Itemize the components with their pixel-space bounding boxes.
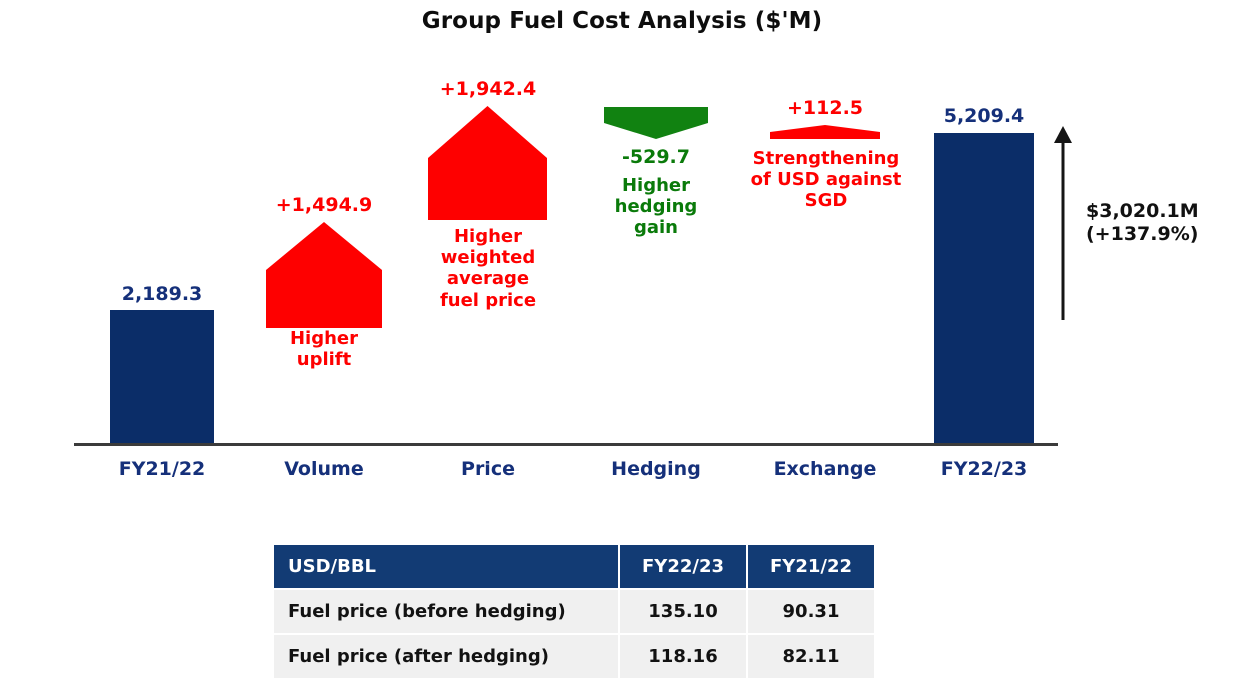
arrow-up-volume-icon	[266, 222, 382, 328]
chart-canvas: Group Fuel Cost Analysis ($'M) 2,189.3 +…	[0, 0, 1244, 696]
table-cell-fy22-23: 118.16	[619, 634, 747, 679]
axis-label-fy21-22: FY21/22	[100, 458, 224, 480]
bar-fy21-22	[110, 310, 214, 443]
caption-price-text: Higher weighted average fuel price	[440, 226, 536, 311]
table-header-usd-bbl: USD/BBL	[273, 544, 619, 589]
caption-hedging-text: Higher hedging gain	[615, 175, 698, 238]
table-cell-fy21-22: 90.31	[747, 589, 875, 634]
waterfall-plot: 2,189.3 +1,494.9 Higher uplift +1,942.4 …	[0, 0, 1244, 500]
x-axis-line	[74, 443, 1058, 446]
table-header-fy21-22: FY21/22	[747, 544, 875, 589]
axis-label-volume: Volume	[262, 458, 386, 480]
delta-arrow-icon	[1046, 126, 1080, 322]
fuel-price-table: USD/BBL FY22/23 FY21/22 Fuel price (befo…	[272, 543, 876, 680]
arrow-up-price-icon	[428, 106, 547, 220]
caption-price: Higher weighted average fuel price	[420, 226, 556, 311]
arrow-flat-exchange-icon	[770, 125, 880, 139]
table-cell-label: Fuel price (after hedging)	[273, 634, 619, 679]
delta-annotation: $3,020.1M (+137.9%)	[1086, 200, 1241, 246]
caption-volume-text: Higher uplift	[290, 328, 358, 370]
table-cell-fy21-22: 82.11	[747, 634, 875, 679]
axis-label-exchange: Exchange	[757, 458, 893, 480]
table-cell-fy22-23: 135.10	[619, 589, 747, 634]
table-header-fy22-23: FY22/23	[619, 544, 747, 589]
value-label-price: +1,942.4	[423, 78, 553, 100]
delta-amount: $3,020.1M	[1086, 200, 1241, 223]
caption-exchange-text: Strengthening of USD against SGD	[751, 148, 902, 211]
axis-label-hedging: Hedging	[594, 458, 718, 480]
value-label-fy21-22: 2,189.3	[110, 283, 214, 305]
axis-label-price: Price	[426, 458, 550, 480]
table-row: Fuel price (before hedging) 135.10 90.31	[273, 589, 875, 634]
delta-percent: (+137.9%)	[1086, 223, 1241, 246]
value-label-hedging: -529.7	[594, 146, 718, 168]
arrow-down-hedging-icon	[604, 107, 708, 139]
bar-fy22-23	[934, 133, 1034, 443]
caption-exchange: Strengthening of USD against SGD	[736, 148, 916, 212]
caption-volume: Higher uplift	[256, 328, 392, 370]
axis-label-fy22-23: FY22/23	[922, 458, 1046, 480]
caption-hedging: Higher hedging gain	[594, 175, 718, 239]
value-label-fy22-23: 5,209.4	[932, 105, 1036, 127]
table-header-row: USD/BBL FY22/23 FY21/22	[273, 544, 875, 589]
table-row: Fuel price (after hedging) 118.16 82.11	[273, 634, 875, 679]
value-label-exchange: +112.5	[763, 97, 887, 119]
table-cell-label: Fuel price (before hedging)	[273, 589, 619, 634]
value-label-volume: +1,494.9	[262, 194, 386, 216]
